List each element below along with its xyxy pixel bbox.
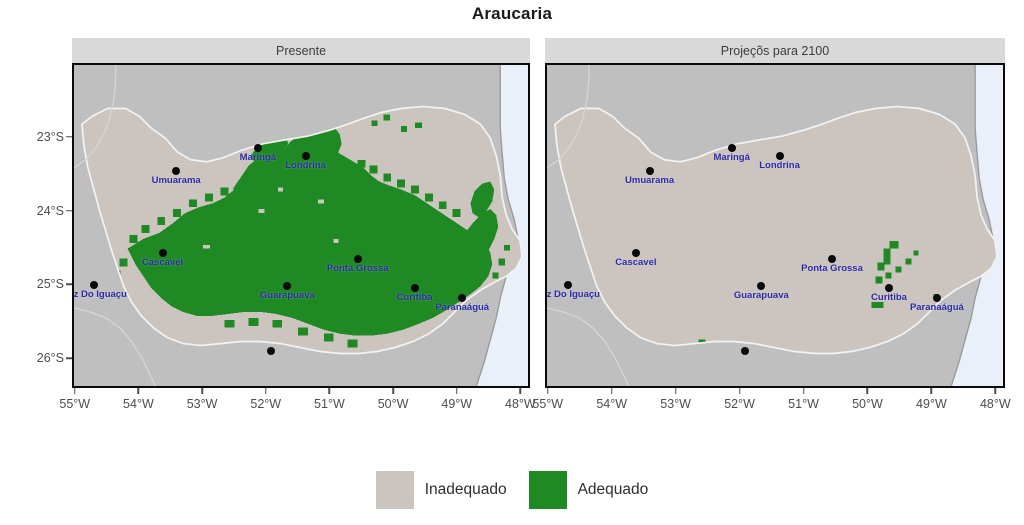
city-label: Paranaáguá [435,302,489,313]
x-tick-mark [931,388,933,394]
city-dot [728,144,736,152]
legend-label-inadequado: Inadequado [425,481,507,499]
legend-swatch-inadequado [376,471,414,509]
panel-strip-projecao-2100: Projeçõs para 2100 [545,38,1005,63]
x-tick-mark [803,388,805,394]
x-tick-label: 49°W [441,397,472,411]
city-dot [267,347,275,355]
city-dot [564,281,572,289]
x-tick-label: 51°W [314,397,345,411]
city-label: Foz Do Iguaçu [545,289,600,300]
legend-item-adequado[interactable]: Adequado [529,471,649,509]
city-label: Londrina [285,160,326,171]
x-tick-mark [995,388,997,394]
figure-title: Araucaria [0,4,1024,24]
x-tick-label: 50°W [852,397,883,411]
y-tick-label: 25°S [37,277,64,291]
city-dot [933,294,941,302]
x-tick-label: 51°W [788,397,819,411]
y-tick-label: 23°S [37,130,64,144]
panel-projecao-2100: Projeçõs para 2100 [545,38,1005,388]
city-dot [283,282,291,290]
x-tick-label: 52°W [724,397,755,411]
x-tick-label: 53°W [187,397,218,411]
x-tick-mark [392,388,394,394]
city-label: Maringá [713,152,749,163]
x-tick-mark [329,388,331,394]
city-label: Londrina [759,160,800,171]
city-label: Cascavel [615,257,656,268]
x-tick-mark [201,388,203,394]
city-dot [776,152,784,160]
city-dot [159,249,167,257]
city-dot [354,255,362,263]
x-tick-mark [547,388,549,394]
panel-strip-presente: Presente [72,38,530,63]
legend-label-adequado: Adequado [578,481,649,499]
city-label: Ponta Grossa [327,263,389,274]
plot-area-presente: Umuarama Maringá Londrina Cascavel Foz D… [72,63,530,388]
x-tick-label: 53°W [660,397,691,411]
map-canvas-presente [74,65,528,386]
city-label: Guarapuava [260,290,315,301]
x-tick-label: 48°W [505,397,536,411]
panel-title-presente: Presente [276,44,326,58]
city-label: Cascavel [142,257,183,268]
x-tick-mark [265,388,267,394]
x-tick-label: 52°W [250,397,281,411]
x-tick-mark [456,388,458,394]
city-label: Ponta Grossa [801,263,863,274]
city-label: Foz Do Iguaçu [72,289,127,300]
city-dot [828,255,836,263]
legend-swatch-adequado [529,471,567,509]
x-axis-presente: 55°W 54°W 53°W 52°W 51°W 50°W 49°W 48°W [72,388,530,418]
city-label: Curitiba [871,292,907,303]
panel-presente: Presente [72,38,530,388]
x-tick-label: 54°W [596,397,627,411]
city-dot [646,167,654,175]
city-dot [302,152,310,160]
y-tick-label: 26°S [37,351,64,365]
city-dot [458,294,466,302]
city-label: Guarapuava [734,290,789,301]
legend-item-inadequado[interactable]: Inadequado [376,471,507,509]
city-dot [885,284,893,292]
city-label: Umuarama [625,175,674,186]
city-label: Umuarama [152,175,201,186]
legend: Inadequado Adequado [0,462,1024,517]
map-canvas-projecao-2100 [547,65,1003,386]
x-axis-projecao-2100: 55°W 54°W 53°W 52°W 51°W 50°W 49°W 48°W [545,388,1005,418]
panel-title-projecao-2100: Projeçõs para 2100 [721,44,829,58]
x-tick-mark [74,388,76,394]
x-tick-label: 55°W [59,397,90,411]
city-dot [172,167,180,175]
city-dot [632,249,640,257]
x-tick-mark [520,388,522,394]
city-label: Paranaáguá [910,302,964,313]
x-tick-label: 54°W [123,397,154,411]
x-tick-label: 50°W [378,397,409,411]
figure-root: Araucaria 23°S 24°S 25°S 26°S Presente [0,0,1024,525]
x-tick-mark [138,388,140,394]
x-tick-mark [867,388,869,394]
city-dot [741,347,749,355]
city-dot [757,282,765,290]
city-dot [411,284,419,292]
x-tick-mark [739,388,741,394]
x-tick-label: 55°W [532,397,563,411]
x-tick-label: 49°W [916,397,947,411]
plot-area-projecao-2100: Umuarama Maringá Londrina Cascavel Foz D… [545,63,1005,388]
city-label: Curitiba [397,292,433,303]
x-tick-mark [611,388,613,394]
x-tick-mark [675,388,677,394]
y-axis: 23°S 24°S 25°S 26°S [0,63,72,388]
x-tick-label: 48°W [980,397,1011,411]
city-label: Maringá [240,152,276,163]
y-tick-label: 24°S [37,204,64,218]
city-dot [254,144,262,152]
city-dot [90,281,98,289]
